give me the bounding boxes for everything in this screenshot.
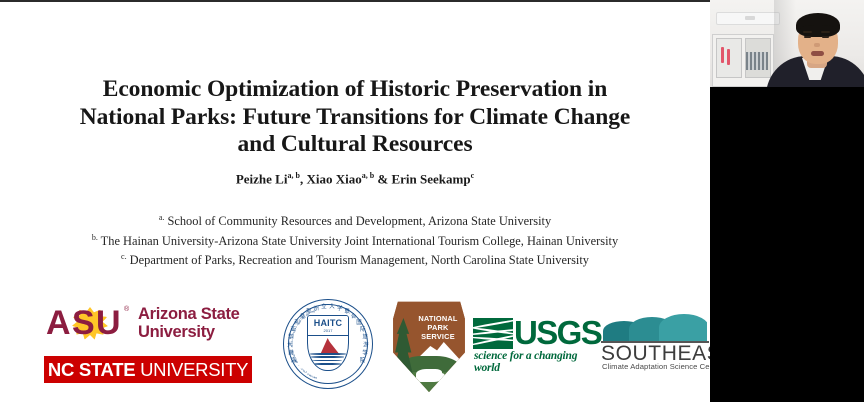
nc-state-light-text: UNIVERSITY <box>135 359 248 380</box>
asu-wordmark: Arizona State University <box>138 305 240 341</box>
presenter-webcam-panel[interactable] <box>710 0 864 402</box>
affiliation-a-text: School of Community Resources and Develo… <box>164 214 551 228</box>
shelf-item-red-1 <box>721 47 724 63</box>
presenter-eyebrow-right <box>821 31 830 33</box>
asu-letter-u: U <box>96 304 120 342</box>
presentation-slide: Economic Optimization of Historic Preser… <box>0 0 710 402</box>
haitc-year: 2017 <box>308 328 348 333</box>
usgs-wordmark: USGS <box>514 315 601 351</box>
usgs-wave-icon <box>473 318 513 349</box>
wave-lines-icon <box>310 353 346 367</box>
author-1-name: Peizhe Li <box>236 171 288 186</box>
haitc-acronym: HAITC <box>308 318 348 328</box>
asu-letter-s: S <box>72 304 94 342</box>
affiliation-c: c. Department of Parks, Recreation and T… <box>20 249 690 269</box>
mountain-range-icon <box>603 314 707 341</box>
empty-video-area <box>710 87 864 402</box>
asu-wordmark-line-2: University <box>138 323 240 341</box>
window-top-border <box>0 0 710 2</box>
slide-title: Economic Optimization of Historic Preser… <box>40 76 670 159</box>
shelf-item-red-2 <box>727 49 730 65</box>
hill-front <box>659 314 707 341</box>
nps-line-3: SERVICE <box>410 332 466 341</box>
affiliation-a: a. School of Community Resources and Dev… <box>20 210 690 230</box>
author-2-name: Xiao Xiao <box>306 171 361 186</box>
author-2-affiliation-marker: a, b <box>362 171 374 180</box>
asu-logo: A S U ® Arizona State University <box>46 304 274 344</box>
asu-sunburst-icon: A S U ® <box>46 304 130 342</box>
shelf-books <box>746 52 768 70</box>
usgs-logo: USGS science for a changing world <box>473 318 591 366</box>
author-1-affiliation-marker: a, b <box>287 171 299 180</box>
nc-state-logo: NC STATE UNIVERSITY <box>44 356 252 383</box>
author-3-affiliation-marker: c <box>471 171 475 180</box>
nps-line-2: PARK <box>410 323 466 332</box>
presenter-mouth <box>811 51 824 56</box>
sponsor-logo-row: A S U ® Arizona State University NC STAT… <box>0 296 710 396</box>
title-line-2: National Parks: Future Transitions for C… <box>40 104 670 132</box>
affiliation-b: b. The Hainan University-Arizona State U… <box>20 230 690 250</box>
haitc-shield-icon: HAITC 2017 <box>307 315 349 371</box>
nps-wordmark: NATIONAL PARK SERVICE <box>410 314 466 341</box>
title-line-3: and Cultural Resources <box>40 131 670 159</box>
author-3-name: Erin Seekamp <box>391 171 470 186</box>
affiliation-b-text: The Hainan University-Arizona State Univ… <box>98 234 618 248</box>
presenter-nose <box>814 43 820 47</box>
asu-letter-a: A <box>46 304 70 342</box>
nc-state-bold-text: NC STATE <box>48 359 135 380</box>
nps-line-1: NATIONAL <box>410 314 466 323</box>
haitc-logo: 海南大学亚利桑那州立大学联合国际旅游学院 Hainan Univ. - ASU … <box>283 299 375 391</box>
affiliation-c-text: Department of Parks, Recreation and Tour… <box>127 253 589 267</box>
usgs-tagline: science for a changing world <box>474 350 591 374</box>
asu-wordmark-line-1: Arizona State <box>138 305 240 323</box>
affiliation-list: a. School of Community Resources and Dev… <box>20 210 690 269</box>
presenter-eyebrow-left <box>803 31 812 33</box>
southeast-casc-logo: SOUTHEAST Climate Adaptation Science Cen… <box>597 314 710 372</box>
title-line-1: Economic Optimization of Historic Preser… <box>40 76 670 104</box>
asu-letters: A S U <box>46 304 130 342</box>
national-park-service-logo: NATIONAL PARK SERVICE <box>390 298 468 392</box>
air-conditioner-unit <box>716 12 780 25</box>
registered-trademark-icon: ® <box>124 306 129 313</box>
casc-subtitle: Climate Adaptation Science Center <box>602 362 710 371</box>
author-list: Peizhe Lia, b, Xiao Xiaoa, b & Erin Seek… <box>40 171 670 187</box>
presenter-hair <box>796 13 840 37</box>
author-separator-2: & <box>374 171 391 186</box>
screen: Economic Optimization of Historic Preser… <box>0 0 864 402</box>
bison-head-icon <box>436 373 445 381</box>
presenter-video-feed[interactable] <box>710 0 864 87</box>
